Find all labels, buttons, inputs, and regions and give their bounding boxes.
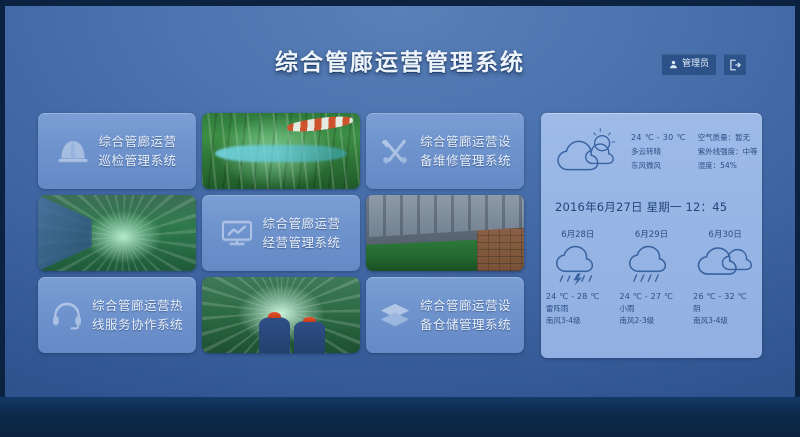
cloudy-sun-icon (551, 125, 625, 179)
module-tile-label: 综合管廊运营设 备仓储管理系统 (420, 296, 511, 334)
forecast-wind: 南风2-3级 (619, 315, 683, 327)
worker-figure (294, 321, 326, 353)
module-tile-label: 综合管廊运营设 备维修管理系统 (420, 132, 511, 170)
forecast-condition: 阴 (693, 303, 757, 315)
weather-uv-index: 紫外线强度：中等 (698, 145, 758, 159)
forecast-day: 6月28日 24 ℃ - 28 ℃ (541, 225, 615, 353)
user-account-button[interactable]: 管理员 (661, 53, 717, 76)
module-tile-grid: 综合管廊运营 巡检管理系统 (38, 113, 523, 358)
helmet-icon (57, 138, 89, 164)
red-pipe-detail (287, 114, 354, 134)
dashboard-stage: 综合管廊运营管理系统 管理员 (5, 6, 795, 397)
window-frame-bottom (0, 397, 800, 437)
module-tile-label: 综合管廊运营热 线服务协作系统 (92, 296, 183, 334)
weather-condition: 多云转晴 (631, 145, 686, 159)
weather-datetime: 2016年6月27日 星期一 12：45 (555, 199, 727, 215)
module-tile-label: 综合管廊运营 巡检管理系统 (98, 132, 176, 170)
logout-button[interactable] (723, 53, 747, 76)
forecast-text: 24 ℃ - 28 ℃ 雷阵雨 南风3-4级 (546, 290, 610, 327)
dashboard-content: 综合管廊运营 巡检管理系统 (5, 104, 795, 397)
module-tile-operations[interactable]: 综合管廊运营 经营管理系统 (202, 195, 360, 271)
module-tile-inspection[interactable]: 综合管廊运营 巡检管理系统 (38, 113, 196, 189)
forecast-day: 6月29日 24 ℃ - 27 ℃ 小雨 (615, 225, 689, 353)
workers-tunnel-photo (202, 277, 360, 353)
brick-wall-detail (477, 195, 524, 271)
forecast-temperature: 26 ℃ - 32 ℃ (693, 290, 757, 303)
weather-current: 24 ℃ - 30 ℃ 多云转晴 东风微风 空气质量：暂无 紫外线强度：中等 湿… (541, 121, 762, 183)
module-tile-photo-tunnel-corridor[interactable] (38, 195, 196, 271)
forecast-text: 24 ℃ - 27 ℃ 小雨 南风2-3级 (619, 290, 683, 327)
red-helmet (268, 312, 281, 318)
weather-column-left: 24 ℃ - 30 ℃ 多云转晴 东风微风 (631, 131, 686, 173)
thunderstorm-icon (551, 243, 605, 287)
headset-icon (51, 301, 83, 329)
app-header: 综合管廊运营管理系统 管理员 (5, 6, 795, 104)
forecast-day: 6月30日 26 ℃ - 32 ℃ 阴 南风3-4级 (688, 225, 762, 353)
module-tile-hotline[interactable]: 综合管廊运营热 线服务协作系统 (38, 277, 196, 353)
red-helmet (303, 317, 316, 322)
window-frame-right (795, 0, 800, 437)
forecast-wind: 南风3-4级 (693, 315, 757, 327)
weather-air-quality: 空气质量：暂无 (698, 131, 758, 145)
weather-current-details: 24 ℃ - 30 ℃ 多云转晴 东风微风 空气质量：暂无 紫外线强度：中等 湿… (631, 131, 758, 173)
forecast-date: 6月29日 (635, 228, 668, 240)
forecast-condition: 雷阵雨 (546, 303, 610, 315)
forecast-temperature: 24 ℃ - 27 ℃ (619, 290, 683, 303)
rain-icon (624, 243, 678, 287)
road-bridge-photo (366, 195, 524, 271)
forecast-condition: 小雨 (619, 303, 683, 315)
tunnel-corridor-photo (38, 195, 196, 271)
application-root: 综合管廊运营管理系统 管理员 (0, 0, 800, 437)
header-actions: 管理员 (661, 53, 747, 76)
layers-icon (379, 302, 411, 328)
weather-forecast: 6月28日 24 ℃ - 28 ℃ (541, 225, 762, 353)
module-tile-photo-tunnel-pipes[interactable] (202, 113, 360, 189)
tools-icon (379, 136, 411, 166)
module-tile-label: 综合管廊运营 经营管理系统 (262, 214, 340, 252)
module-tile-warehouse[interactable]: 综合管廊运营设 备仓储管理系统 (366, 277, 524, 353)
forecast-temperature: 24 ℃ - 28 ℃ (546, 290, 610, 303)
weather-column-right: 空气质量：暂无 紫外线强度：中等 湿度：54% (698, 131, 758, 173)
weather-wind: 东风微风 (631, 159, 686, 173)
weather-humidity: 湿度：54% (698, 159, 758, 173)
forecast-text: 26 ℃ - 32 ℃ 阴 南风3-4级 (693, 290, 757, 327)
weather-temperature: 24 ℃ - 30 ℃ (631, 131, 686, 145)
overcast-icon (696, 243, 754, 287)
worker-figure (259, 317, 291, 353)
forecast-wind: 南风3-4级 (546, 315, 610, 327)
module-tile-photo-road-bridge[interactable] (366, 195, 524, 271)
module-tile-photo-workers-tunnel[interactable] (202, 277, 360, 353)
forecast-date: 6月30日 (709, 228, 742, 240)
person-icon (669, 60, 678, 69)
weather-panel: 24 ℃ - 30 ℃ 多云转晴 东风微风 空气质量：暂无 紫外线强度：中等 湿… (541, 113, 762, 358)
module-tile-maintenance[interactable]: 综合管廊运营设 备维修管理系统 (366, 113, 524, 189)
tunnel-pipes-photo (202, 113, 360, 189)
forecast-date: 6月28日 (561, 228, 594, 240)
logout-icon (729, 59, 741, 71)
user-account-label: 管理员 (682, 54, 709, 75)
monitor-chart-icon (221, 219, 253, 247)
